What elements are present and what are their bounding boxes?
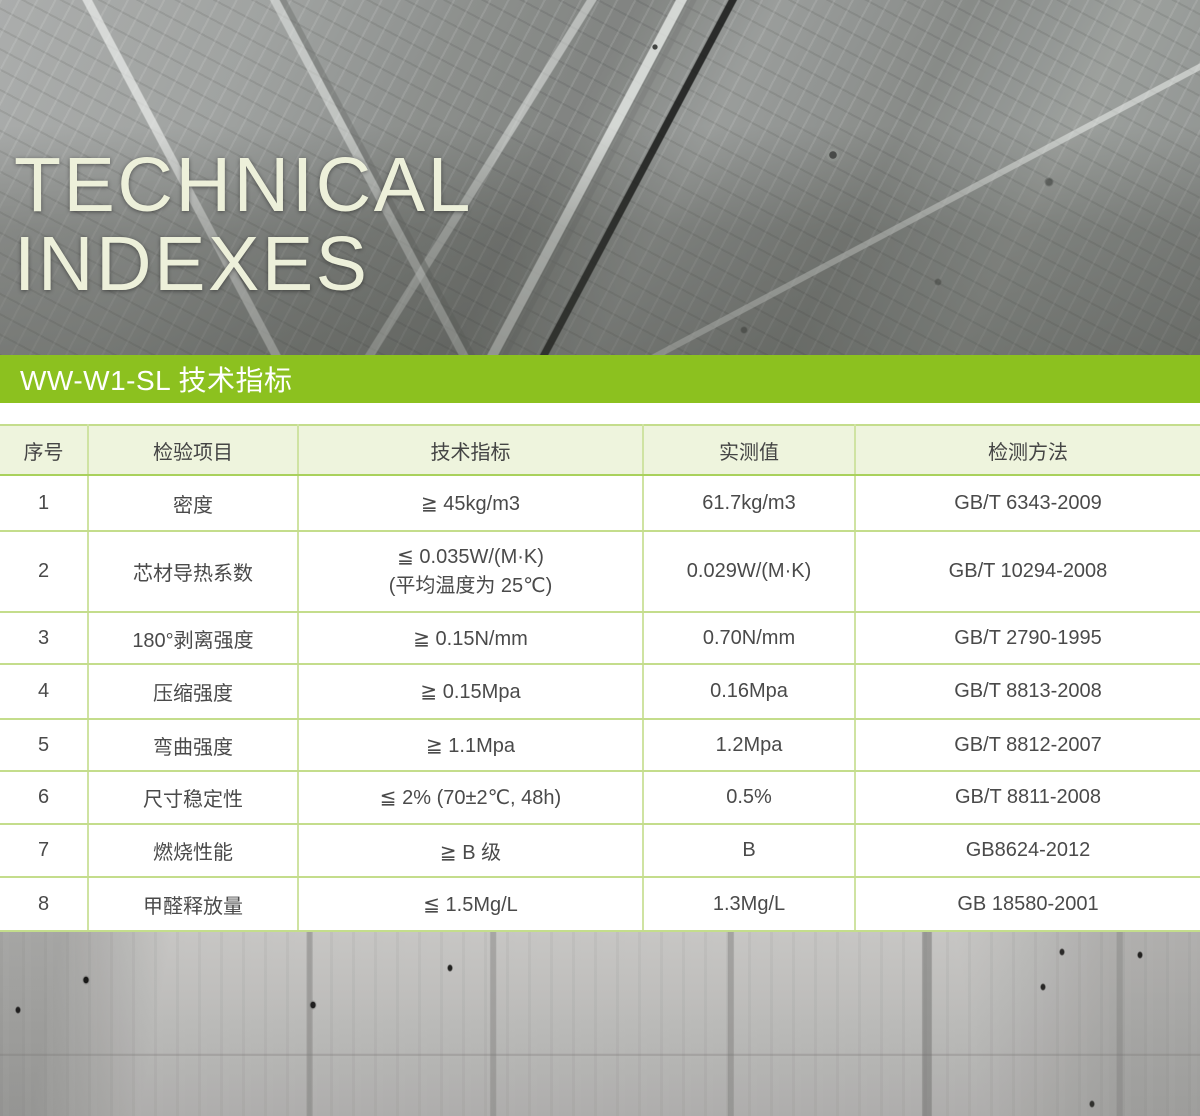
cell-method: GB8624-2012 (855, 824, 1200, 877)
cell-method: GB/T 10294-2008 (855, 531, 1200, 612)
cell-measured: 61.7kg/m3 (643, 475, 855, 531)
table-row: 2 芯材导热系数 ≦ 0.035W/(M·K) (平均温度为 25℃) 0.02… (0, 531, 1200, 612)
cell-measured: 1.3Mg/L (643, 877, 855, 931)
page-title: TECHNICAL INDEXES (14, 148, 473, 303)
technical-indexes-table: 序号 检验项目 技术指标 实测值 检测方法 1 密度 ≧ 45kg/m3 61.… (0, 424, 1200, 932)
cell-measured: 0.70N/mm (643, 612, 855, 664)
cell-no: 2 (0, 531, 88, 612)
footer-photo (0, 932, 1200, 1116)
table-row: 3 180°剥离强度 ≧ 0.15N/mm 0.70N/mm GB/T 2790… (0, 612, 1200, 664)
column-header-measured: 实测值 (643, 425, 855, 475)
cell-item: 180°剥离强度 (88, 612, 298, 664)
cell-no: 4 (0, 664, 88, 719)
table-head: 序号 检验项目 技术指标 实测值 检测方法 (0, 425, 1200, 475)
cell-no: 5 (0, 719, 88, 771)
cell-index: ≧ B 级 (298, 824, 643, 877)
cell-no: 7 (0, 824, 88, 877)
cell-index: ≦ 2% (70±2℃, 48h) (298, 771, 643, 824)
section-banner-label: WW-W1-SL 技术指标 (0, 359, 293, 399)
cell-index: ≧ 1.1Mpa (298, 719, 643, 771)
page-title-line1: TECHNICAL (14, 148, 473, 223)
concrete-wall-image (0, 932, 1200, 1116)
cell-index-line2: (平均温度为 25℃) (305, 572, 636, 601)
table-header-row: 序号 检验项目 技术指标 实测值 检测方法 (0, 425, 1200, 475)
cell-no: 8 (0, 877, 88, 931)
cell-method: GB 18580-2001 (855, 877, 1200, 931)
cell-item: 甲醛释放量 (88, 877, 298, 931)
cell-index: ≦ 1.5Mg/L (298, 877, 643, 931)
cell-no: 6 (0, 771, 88, 824)
cell-measured: 0.029W/(M·K) (643, 531, 855, 612)
table-row: 6 尺寸稳定性 ≦ 2% (70±2℃, 48h) 0.5% GB/T 8811… (0, 771, 1200, 824)
hero-banner-photo: TECHNICAL INDEXES (0, 0, 1200, 356)
cell-item: 燃烧性能 (88, 824, 298, 877)
cell-index: ≦ 0.035W/(M·K) (平均温度为 25℃) (298, 531, 643, 612)
spec-table-container: 序号 检验项目 技术指标 实测值 检测方法 1 密度 ≧ 45kg/m3 61.… (0, 424, 1200, 933)
section-banner: WW-W1-SL 技术指标 (0, 355, 1200, 403)
table-row: 5 弯曲强度 ≧ 1.1Mpa 1.2Mpa GB/T 8812-2007 (0, 719, 1200, 771)
cell-index: ≧ 45kg/m3 (298, 475, 643, 531)
column-header-method: 检测方法 (855, 425, 1200, 475)
cell-method: GB/T 6343-2009 (855, 475, 1200, 531)
cell-item: 压缩强度 (88, 664, 298, 719)
cell-method: GB/T 8813-2008 (855, 664, 1200, 719)
cell-method: GB/T 2790-1995 (855, 612, 1200, 664)
cell-method: GB/T 8811-2008 (855, 771, 1200, 824)
cell-index: ≧ 0.15Mpa (298, 664, 643, 719)
column-header-item: 检验项目 (88, 425, 298, 475)
cell-no: 3 (0, 612, 88, 664)
cell-no: 1 (0, 475, 88, 531)
cell-item: 弯曲强度 (88, 719, 298, 771)
table-row: 4 压缩强度 ≧ 0.15Mpa 0.16Mpa GB/T 8813-2008 (0, 664, 1200, 719)
cell-index-line1: ≦ 0.035W/(M·K) (305, 543, 636, 572)
table-body: 1 密度 ≧ 45kg/m3 61.7kg/m3 GB/T 6343-2009 … (0, 475, 1200, 931)
cell-measured: 1.2Mpa (643, 719, 855, 771)
cell-item: 密度 (88, 475, 298, 531)
technical-indexes-page: TECHNICAL INDEXES WW-W1-SL 技术指标 序号 检验项目 … (0, 0, 1200, 1116)
table-row: 8 甲醛释放量 ≦ 1.5Mg/L 1.3Mg/L GB 18580-2001 (0, 877, 1200, 931)
cell-item: 尺寸稳定性 (88, 771, 298, 824)
table-row: 7 燃烧性能 ≧ B 级 B GB8624-2012 (0, 824, 1200, 877)
cell-index: ≧ 0.15N/mm (298, 612, 643, 664)
cell-item: 芯材导热系数 (88, 531, 298, 612)
column-header-no: 序号 (0, 425, 88, 475)
cell-measured: 0.5% (643, 771, 855, 824)
cell-measured: 0.16Mpa (643, 664, 855, 719)
table-row: 1 密度 ≧ 45kg/m3 61.7kg/m3 GB/T 6343-2009 (0, 475, 1200, 531)
page-title-line2: INDEXES (14, 227, 473, 302)
column-header-index: 技术指标 (298, 425, 643, 475)
cell-method: GB/T 8812-2007 (855, 719, 1200, 771)
cell-measured: B (643, 824, 855, 877)
